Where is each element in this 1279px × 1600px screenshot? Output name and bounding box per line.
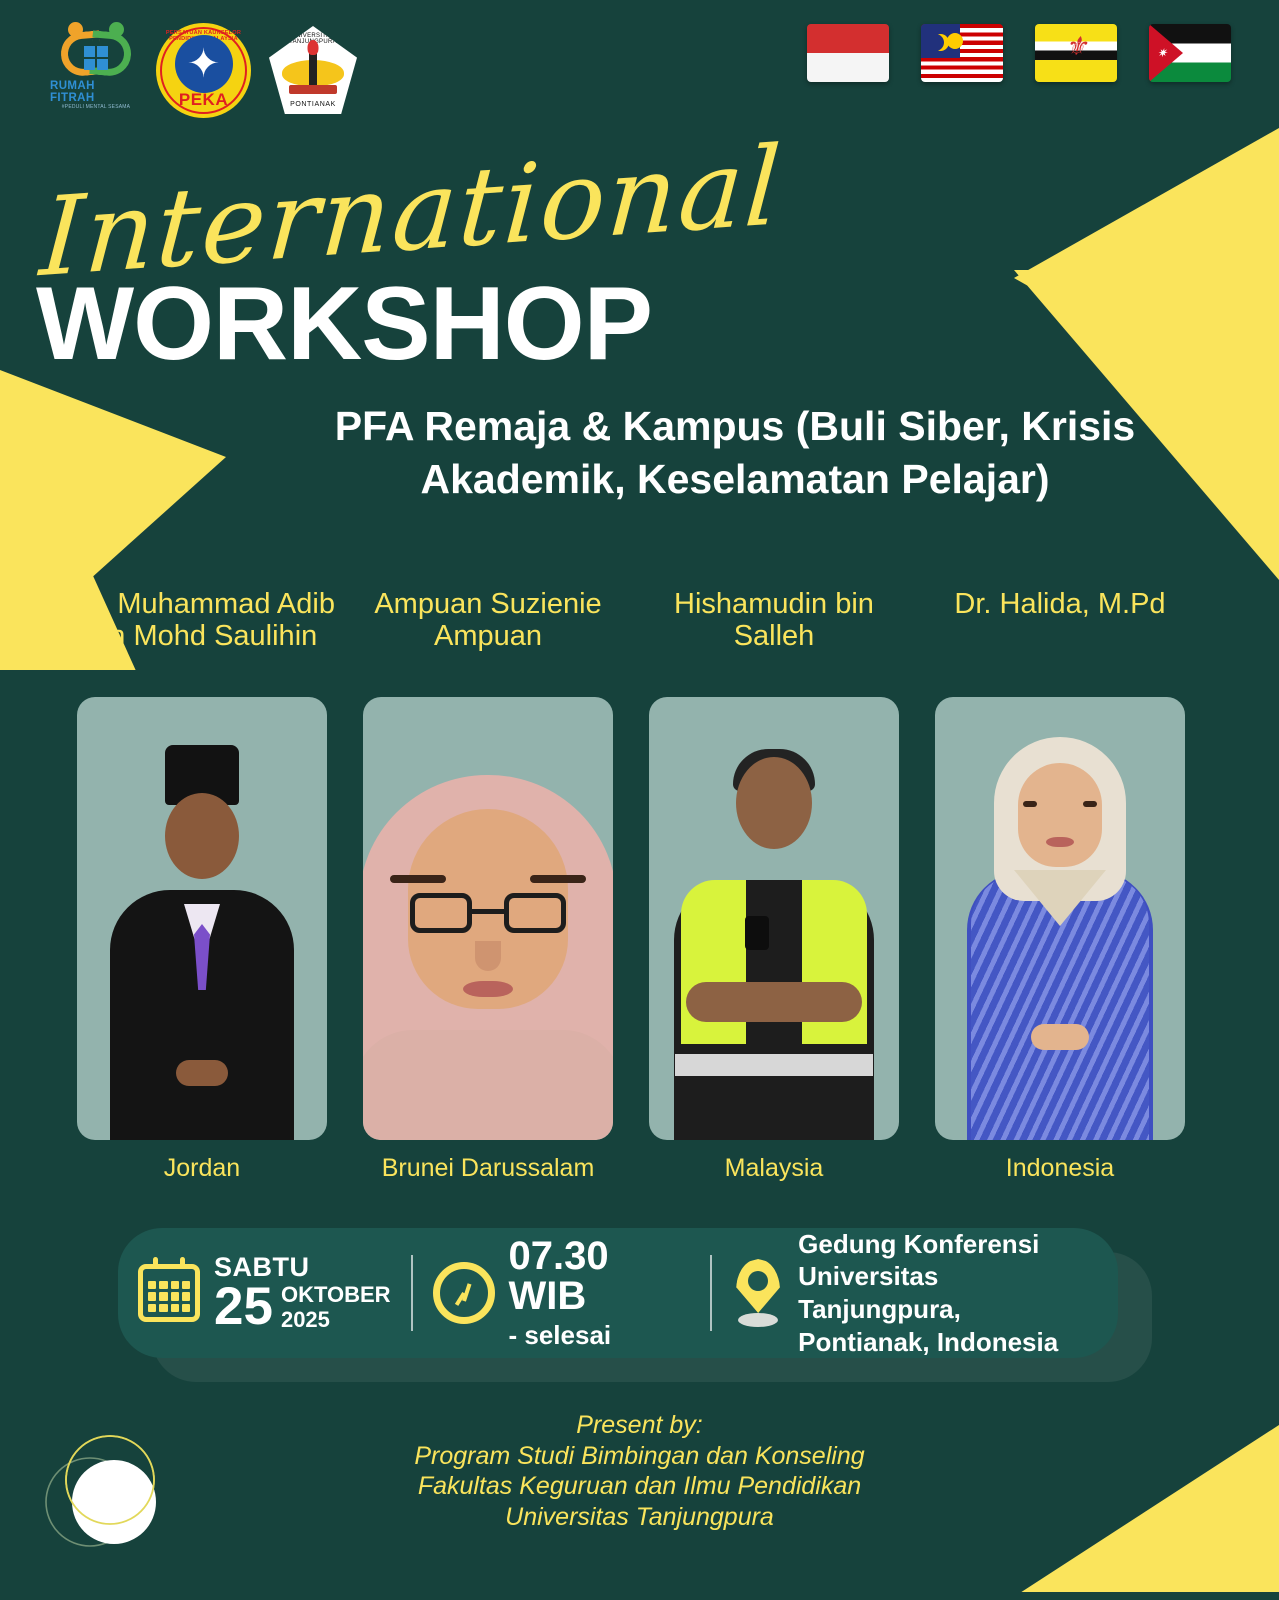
- time-start: 07.30 WIB: [509, 1236, 691, 1316]
- poster-canvas: RUMAH FITRAH #PEDULI MENTAL SESAMA PERSA…: [0, 0, 1279, 1600]
- location-line-3: Pontianak, Indonesia: [798, 1326, 1098, 1359]
- page-title: WORKSHOP: [36, 272, 652, 376]
- speaker-name: Dr. Halida, M.Pd: [954, 588, 1165, 693]
- speaker-list: Mr. Muhammad Adib bin Mohd Saulihin Jord…: [68, 588, 1198, 1183]
- time-end-note: - selesai: [509, 1320, 691, 1351]
- decor-bottom-strip: [0, 1592, 1279, 1600]
- speaker-country: Brunei Darussalam: [382, 1154, 595, 1183]
- map-pin-icon: [732, 1259, 784, 1327]
- untan-shield-icon: UNIVERSITAS TANJUNGPURA PONTIANAK: [269, 26, 357, 114]
- speaker-photo: [77, 697, 327, 1140]
- flag-jordan-icon: ✷: [1149, 24, 1231, 82]
- logo-universitas-tanjungpura: UNIVERSITAS TANJUNGPURA PONTIANAK: [265, 22, 361, 118]
- speaker-portrait-jordan: [77, 697, 327, 1140]
- speaker-country: Indonesia: [1006, 1154, 1114, 1183]
- speaker-card: Dr. Halida, M.Pd Indonesia: [926, 588, 1194, 1183]
- speaker-name: Ampuan Suzienie Ampuan: [354, 588, 622, 693]
- speaker-name: Hishamudin bin Salleh: [640, 588, 908, 693]
- speaker-country: Malaysia: [725, 1154, 824, 1183]
- peka-title: PEKA: [156, 90, 251, 110]
- rumah-fitrah-heart-icon: [61, 24, 131, 78]
- logo-rumah-fitrah: RUMAH FITRAH #PEDULI MENTAL SESAMA: [50, 24, 142, 116]
- info-location: Gedung Konferensi Universitas Tanjungpur…: [712, 1228, 1118, 1359]
- location-line-1: Gedung Konferensi: [798, 1228, 1098, 1261]
- peka-star-icon: ✦: [175, 35, 233, 93]
- rumah-fitrah-title: RUMAH FITRAH: [50, 80, 142, 104]
- clock-icon: [433, 1262, 495, 1324]
- date-day-number: 25: [214, 1283, 273, 1332]
- decor-circles: [38, 1424, 178, 1574]
- speaker-name: Mr. Muhammad Adib bin Mohd Saulihin: [68, 588, 336, 693]
- footer-presented-by: Present by: Program Studi Bimbingan dan …: [0, 1410, 1279, 1532]
- speaker-photo: [935, 697, 1185, 1140]
- info-time: 07.30 WIB - selesai: [413, 1236, 711, 1351]
- org-line-1: Program Studi Bimbingan dan Konseling: [0, 1441, 1279, 1472]
- date-year: 2025: [281, 1308, 391, 1333]
- speaker-card: Mr. Muhammad Adib bin Mohd Saulihin Jord…: [68, 588, 336, 1183]
- speaker-portrait-indonesia: [935, 697, 1185, 1140]
- page-subtitle: PFA Remaja & Kampus (Buli Siber, Krisis …: [300, 400, 1170, 507]
- speaker-photo: [363, 697, 613, 1140]
- flag-malaysia-icon: [921, 24, 1003, 82]
- speaker-country: Jordan: [164, 1154, 240, 1183]
- speaker-card: Hishamudin bin Salleh Malaysia: [640, 588, 908, 1183]
- speaker-portrait-brunei: [363, 697, 613, 1140]
- flag-brunei-icon: ⚜: [1035, 24, 1117, 82]
- info-date: SABTU 25 OKTOBER 2025: [118, 1254, 411, 1332]
- country-flags: ⚜ ✷: [807, 24, 1231, 82]
- speaker-photo: [649, 697, 899, 1140]
- event-info-bar: SABTU 25 OKTOBER 2025 07.30 WIB - selesa…: [118, 1228, 1118, 1358]
- org-line-2: Fakultas Keguruan dan Ilmu Pendidikan: [0, 1471, 1279, 1502]
- rumah-fitrah-tagline: #PEDULI MENTAL SESAMA: [62, 104, 130, 110]
- logo-peka: PERSATUAN KAUNSELOR PENDIDIKAN MALAYSIA …: [156, 23, 251, 118]
- present-by-label: Present by:: [0, 1410, 1279, 1441]
- speaker-portrait-malaysia: [649, 697, 899, 1140]
- untan-bottom-text: PONTIANAK: [269, 101, 357, 108]
- location-line-2: Universitas Tanjungpura,: [798, 1260, 1098, 1326]
- org-line-3: Universitas Tanjungpura: [0, 1502, 1279, 1533]
- speaker-card: Ampuan Suzienie Ampuan Brunei Darussalam: [354, 588, 622, 1183]
- flag-indonesia-icon: [807, 24, 889, 82]
- date-month: OKTOBER: [281, 1283, 391, 1308]
- organizer-logos: RUMAH FITRAH #PEDULI MENTAL SESAMA PERSA…: [50, 22, 361, 118]
- calendar-icon: [138, 1264, 200, 1322]
